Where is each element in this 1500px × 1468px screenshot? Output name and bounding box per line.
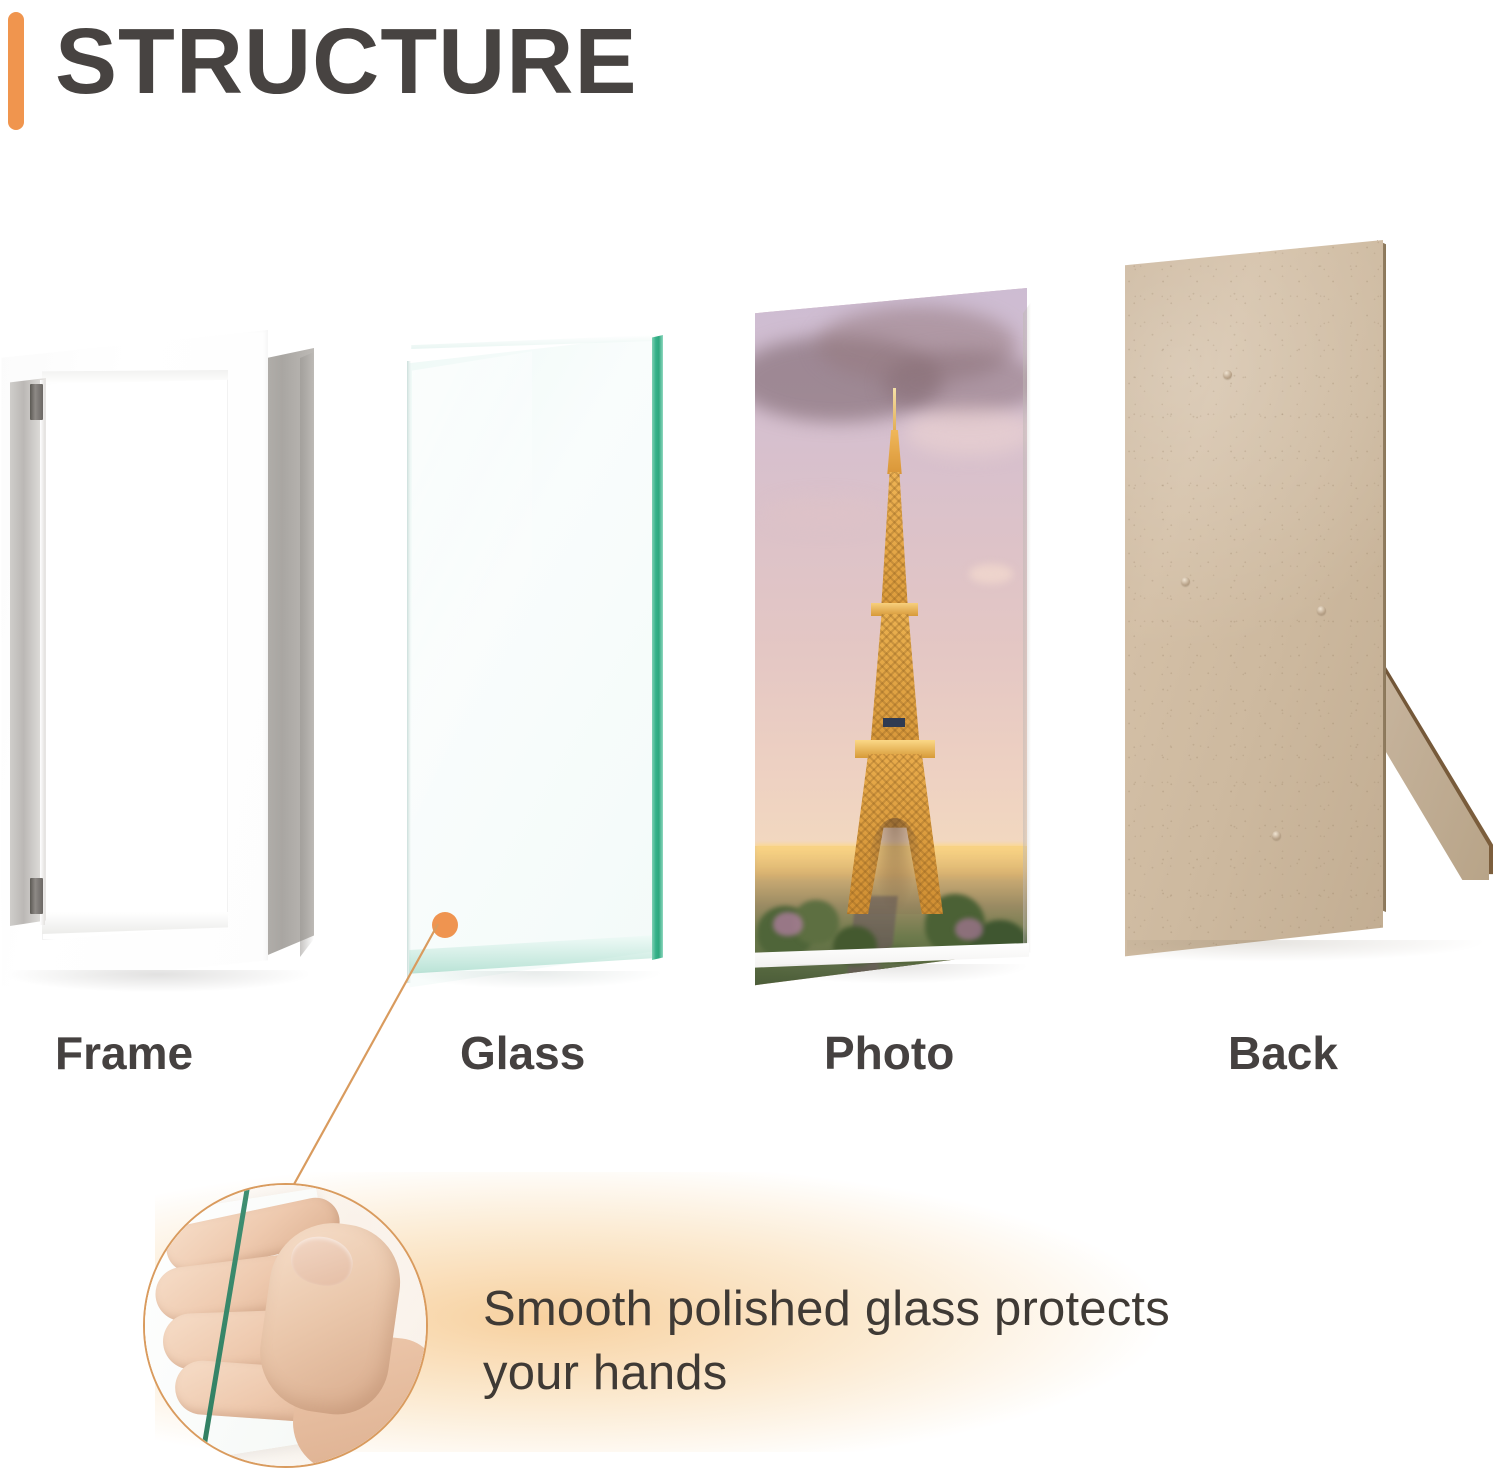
page-title: STRUCTURE	[55, 7, 638, 117]
back-component	[1125, 240, 1495, 990]
glass-component	[400, 335, 690, 995]
photo-cloud	[969, 564, 1013, 584]
tower-arch	[869, 818, 921, 914]
back-ground-shadow	[1127, 940, 1487, 962]
callout-inset-photo	[143, 1183, 428, 1468]
back-board-hole	[1272, 831, 1281, 840]
photo-ground-shadow	[759, 964, 1029, 984]
back-board-hole	[1317, 606, 1326, 615]
component-label-photo: Photo	[824, 1026, 954, 1080]
frame-opening	[42, 370, 228, 940]
tower-sign	[883, 718, 905, 727]
photo-right-edge	[1023, 288, 1031, 988]
frame-clip-top	[30, 384, 43, 420]
frame-component	[0, 330, 330, 990]
glass-highlight	[412, 345, 532, 985]
callout-caption-line-1: Smooth polished glass protects	[483, 1278, 1363, 1342]
infographic-page: STRUCTURE	[0, 0, 1500, 1468]
back-board-texture	[1125, 240, 1383, 960]
tower-antenna	[893, 388, 896, 434]
callout-caption: Smooth polished glass protects your hand…	[483, 1278, 1363, 1405]
tower-top-section	[885, 430, 904, 474]
glass-polished-edge	[652, 335, 663, 960]
header-accent-bar	[8, 12, 24, 130]
photo-print	[755, 288, 1027, 988]
frame-rabbet-inner-line	[40, 380, 45, 925]
frame-clip-bottom	[30, 878, 43, 914]
component-label-back: Back	[1228, 1026, 1338, 1080]
back-board-hole	[1181, 577, 1190, 586]
tower-lattice	[877, 472, 912, 608]
frame-side-shadow	[300, 352, 314, 957]
photo-component	[755, 288, 1045, 998]
eiffel-tower	[843, 388, 947, 948]
glass-left-edge	[407, 361, 411, 983]
callout-caption-line-2: your hands	[483, 1342, 1363, 1406]
back-board-hole	[1223, 370, 1232, 379]
photo-blossom-tree	[955, 918, 983, 940]
photo-blossom-tree	[773, 912, 803, 936]
